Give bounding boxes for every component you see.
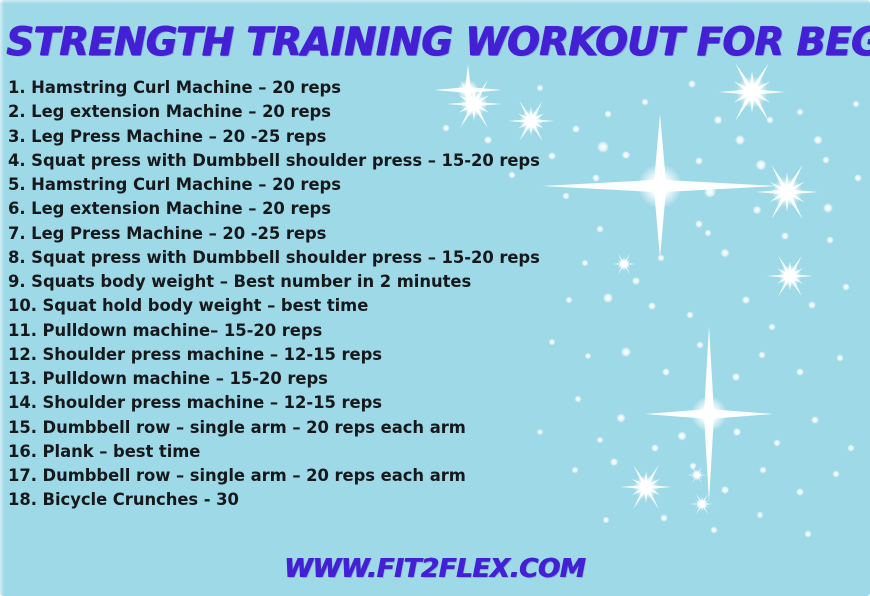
list-item: 12. Shoulder press machine – 12-15 reps bbox=[8, 343, 540, 367]
list-item: 10. Squat hold body weight – best time bbox=[8, 294, 540, 318]
list-item: 14. Shoulder press machine – 12-15 reps bbox=[8, 391, 540, 415]
list-item: 18. Bicycle Crunches - 30 bbox=[8, 488, 540, 512]
list-item: 7. Leg Press Machine – 20 -25 reps bbox=[8, 222, 540, 246]
list-item: 16. Plank – best time bbox=[8, 440, 540, 464]
poster-content: STRENGTH TRAINING WORKOUT FOR BEGINNERS … bbox=[0, 0, 870, 596]
list-item: 4. Squat press with Dumbbell shoulder pr… bbox=[8, 149, 540, 173]
list-item: 2. Leg extension Machine – 20 reps bbox=[8, 100, 540, 124]
list-item: 17. Dumbbell row – single arm – 20 reps … bbox=[8, 464, 540, 488]
page-title: STRENGTH TRAINING WORKOUT FOR BEGINNERS bbox=[7, 20, 864, 66]
list-item: 13. Pulldown machine – 15-20 reps bbox=[8, 367, 540, 391]
list-item: 3. Leg Press Machine – 20 -25 reps bbox=[8, 125, 540, 149]
list-item: 11. Pulldown machine– 15-20 reps bbox=[8, 319, 540, 343]
list-item: 5. Hamstring Curl Machine – 20 reps bbox=[8, 173, 540, 197]
list-item: 9. Squats body weight – Best number in 2… bbox=[8, 270, 540, 294]
list-item: 8. Squat press with Dumbbell shoulder pr… bbox=[8, 246, 540, 270]
site-url: WWW.FIT2FLEX.COM bbox=[0, 553, 870, 585]
workout-list: 1. Hamstring Curl Machine – 20 reps2. Le… bbox=[8, 76, 540, 513]
workout-poster: STRENGTH TRAINING WORKOUT FOR BEGINNERS … bbox=[0, 0, 870, 596]
list-item: 1. Hamstring Curl Machine – 20 reps bbox=[8, 76, 540, 100]
list-item: 6. Leg extension Machine – 20 reps bbox=[8, 197, 540, 221]
list-item: 15. Dumbbell row – single arm – 20 reps … bbox=[8, 416, 540, 440]
